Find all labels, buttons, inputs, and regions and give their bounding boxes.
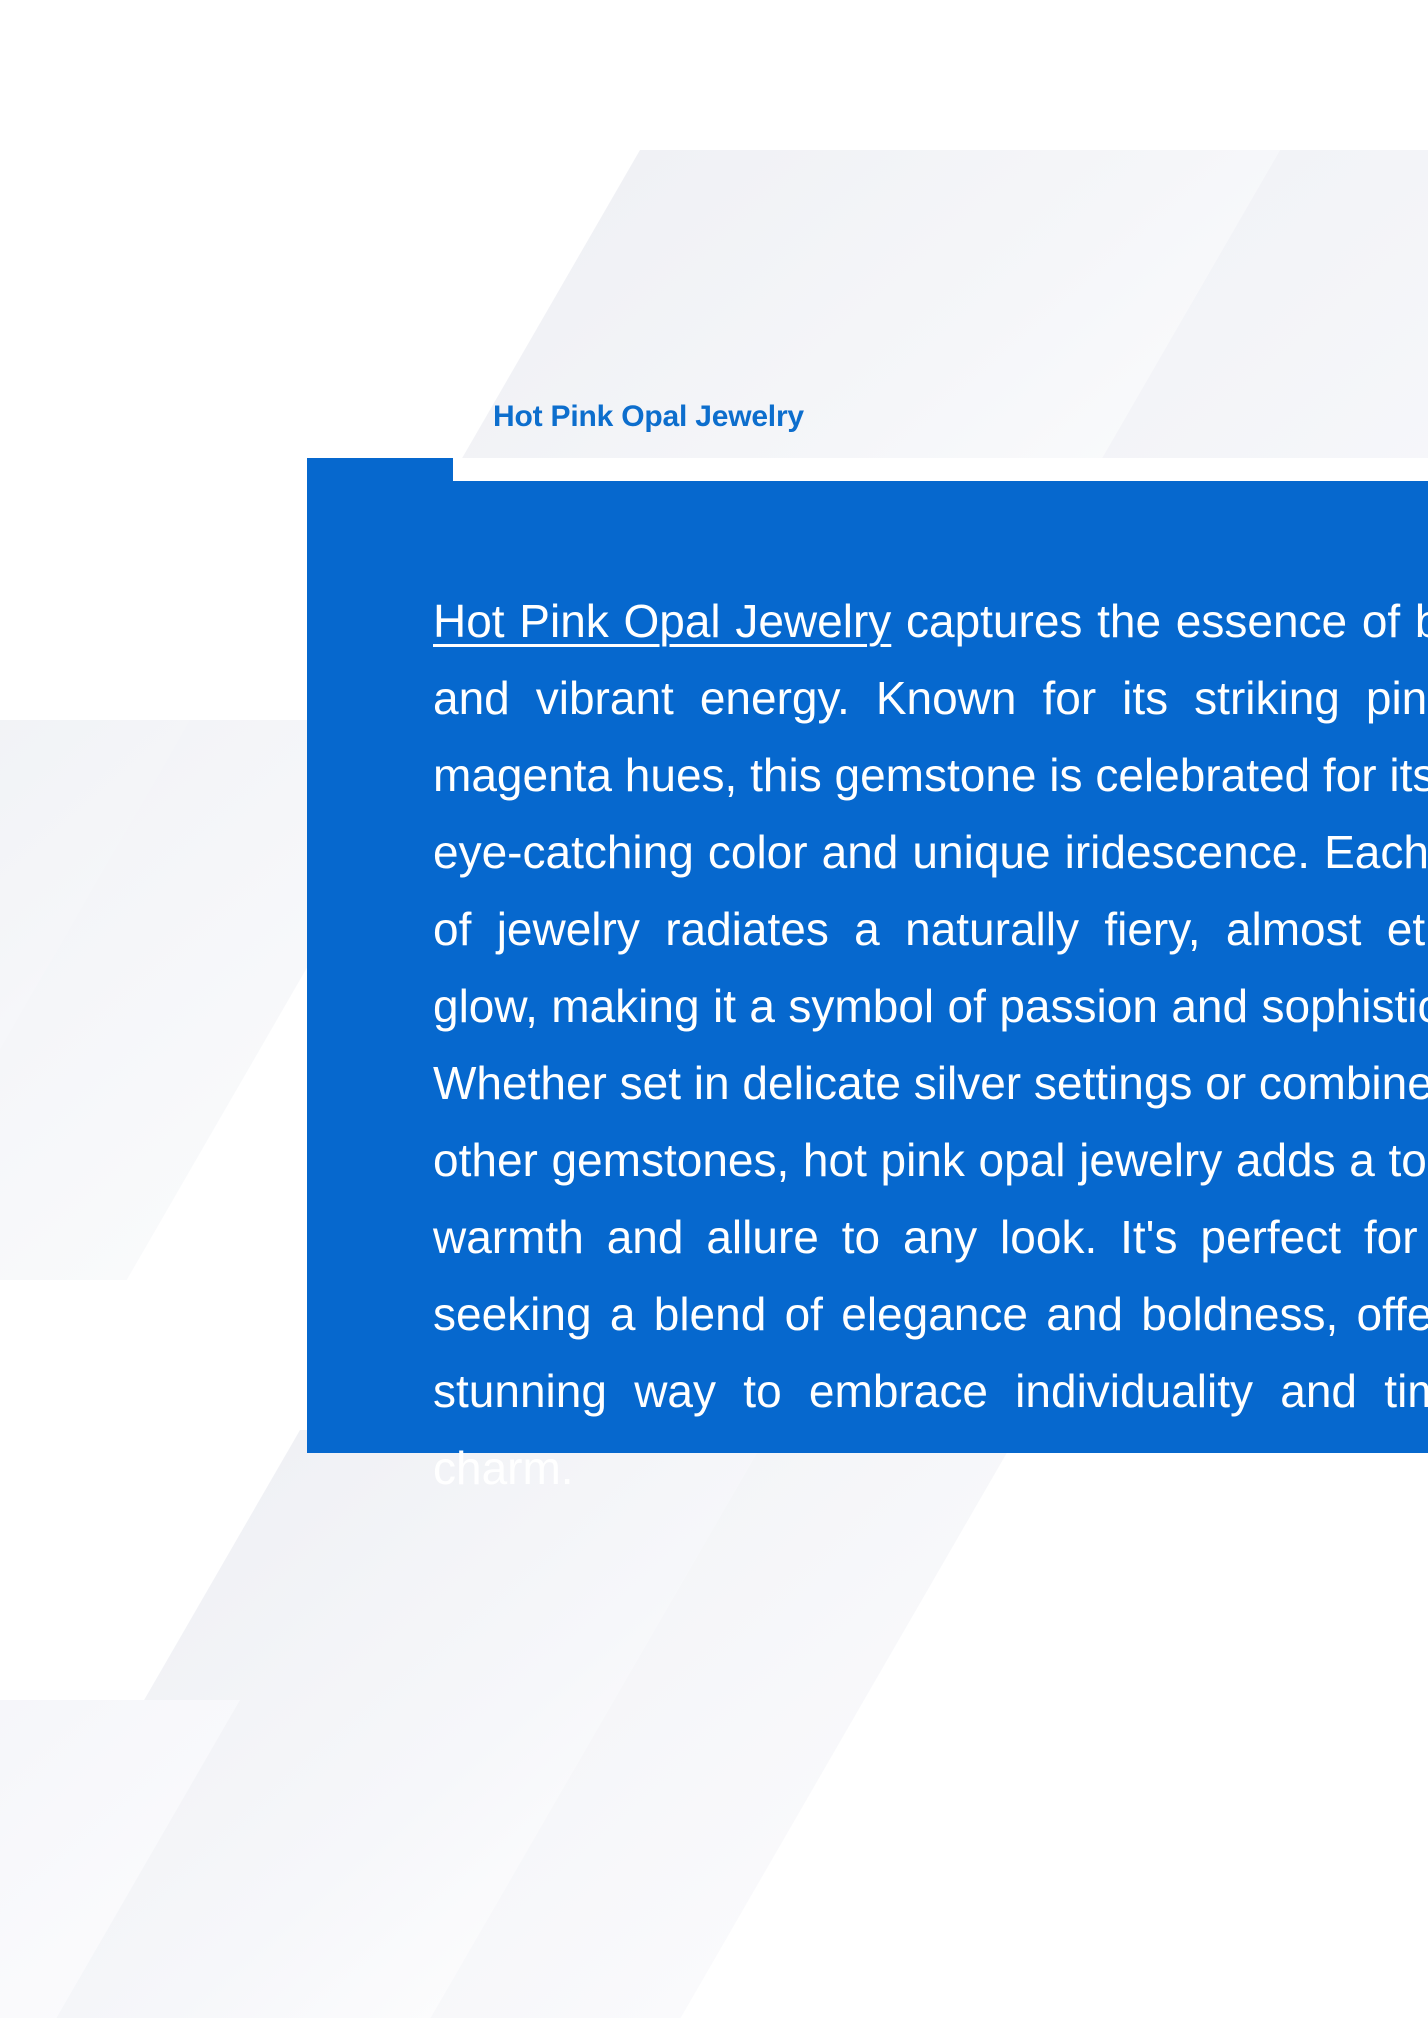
article-body-text: captures the essence of beauty and vibra…	[433, 595, 1428, 1494]
article-lead-link[interactable]: Hot Pink Opal Jewelry	[433, 595, 891, 647]
chevron-band-lower-center-2	[412, 1430, 1020, 2018]
page-title: Hot Pink Opal Jewelry	[493, 400, 804, 434]
chevron-band-lower-center	[0, 1430, 770, 2018]
article-paragraph: Hot Pink Opal Jewelry captures the essen…	[433, 583, 1428, 1507]
chevron-band-left-middle	[0, 720, 240, 1280]
content-card-notch	[453, 458, 1428, 481]
chevron-band-bottom-left	[0, 1700, 240, 2018]
slide-canvas: Hot Pink Opal Jewelry Hot Pink Opal Jewe…	[0, 0, 1428, 2018]
